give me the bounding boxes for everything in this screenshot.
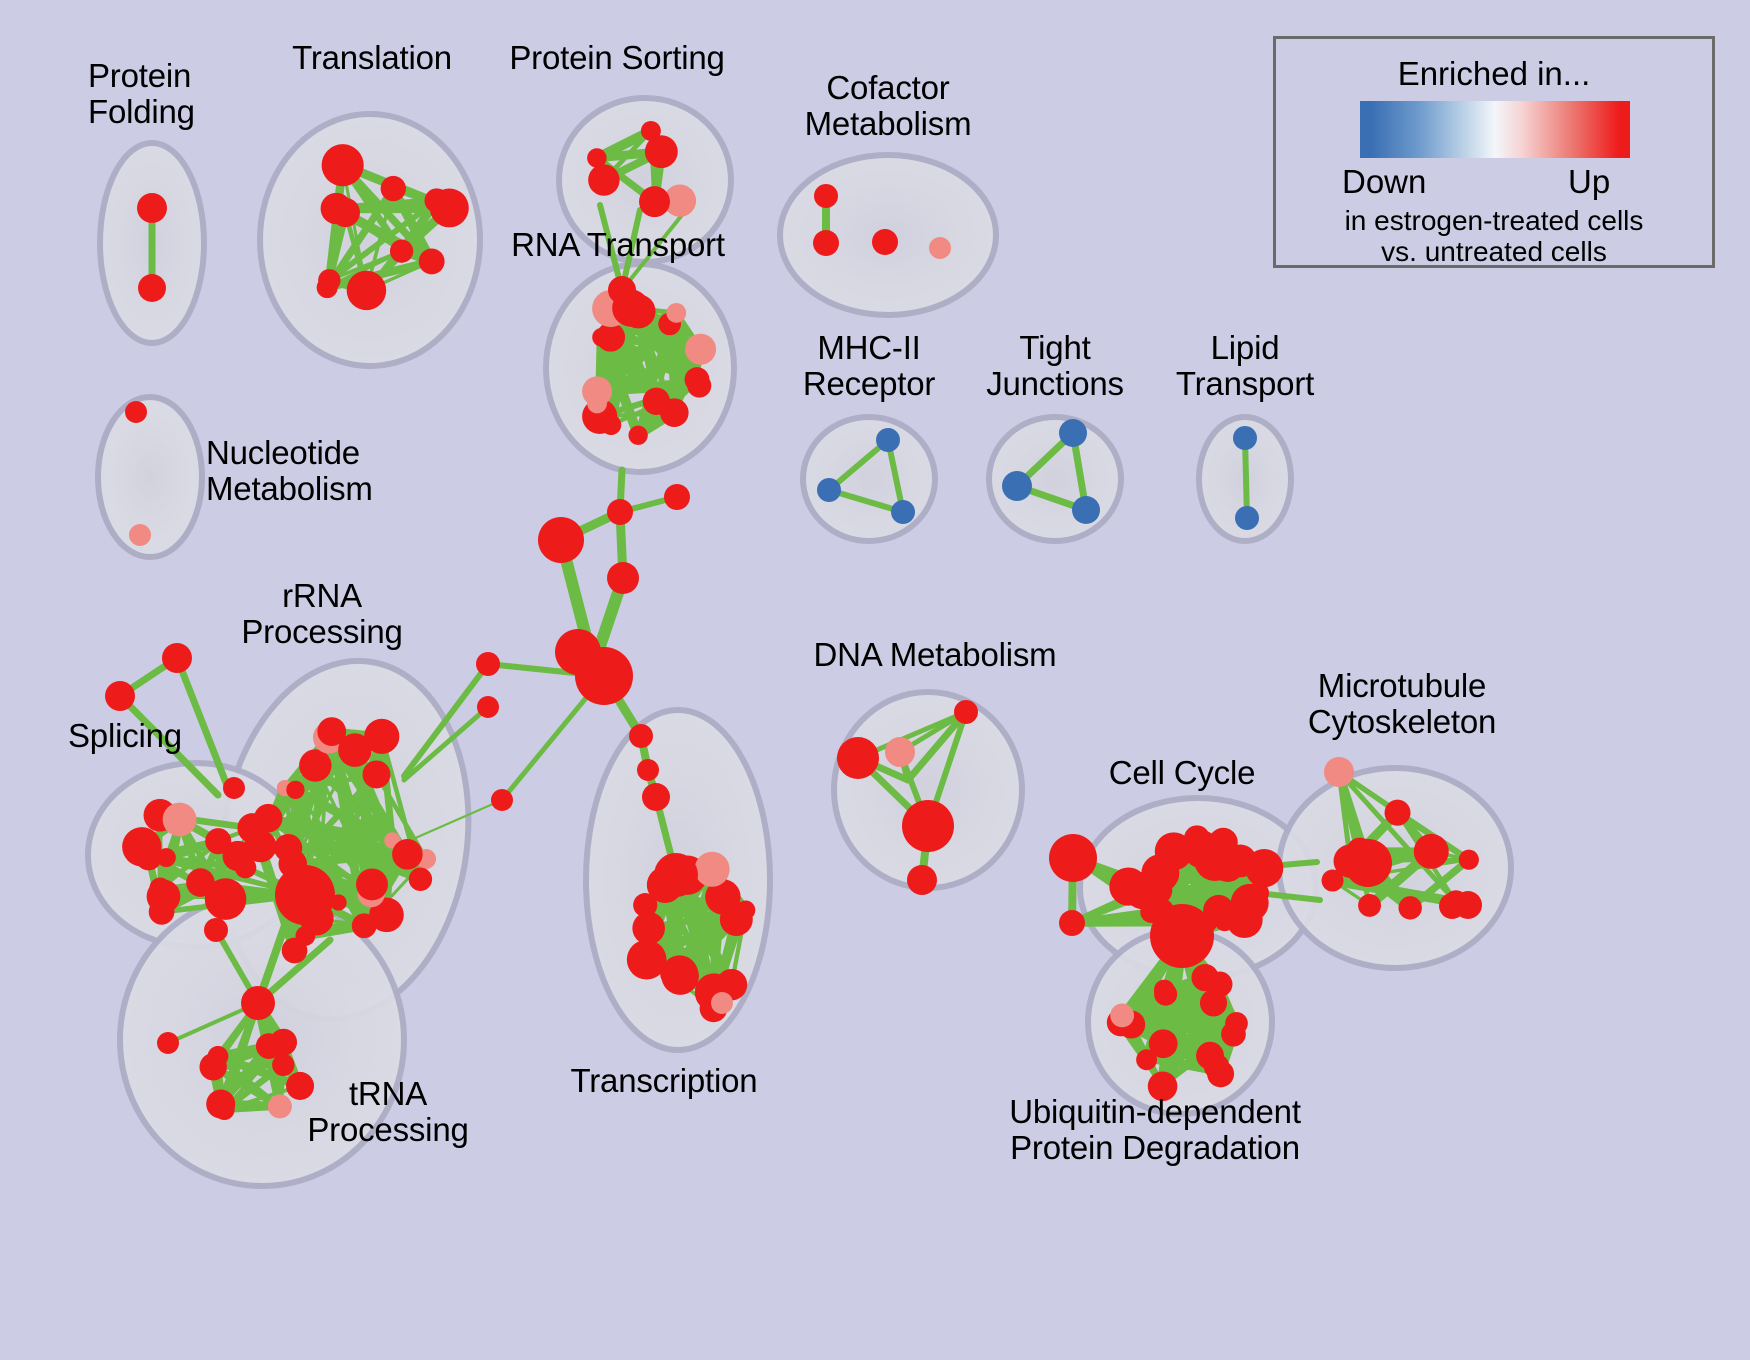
network-node[interactable] — [891, 500, 915, 524]
network-node[interactable] — [1059, 419, 1087, 447]
network-node[interactable] — [582, 376, 612, 406]
network-node[interactable] — [162, 643, 192, 673]
network-node[interactable] — [390, 239, 413, 262]
network-node[interactable] — [1072, 496, 1100, 524]
network-node[interactable] — [362, 760, 390, 788]
network-node[interactable] — [538, 517, 584, 563]
legend-box: Enriched in... Down Up in estrogen-treat… — [1273, 36, 1715, 268]
network-node[interactable] — [666, 303, 686, 323]
network-node[interactable] — [1059, 910, 1085, 936]
network-node[interactable] — [1385, 800, 1411, 826]
network-node[interactable] — [1233, 426, 1257, 450]
network-node[interactable] — [122, 827, 161, 866]
network-node[interactable] — [1221, 1022, 1246, 1047]
network-node[interactable] — [876, 428, 900, 452]
cluster-label-protein-sorting: Protein Sorting — [509, 40, 724, 76]
legend-title: Enriched in... — [1276, 55, 1712, 93]
legend-subtitle-line2: vs. untreated cells — [1276, 236, 1712, 268]
cluster-label-tight-junctions: Tight Junctions — [986, 330, 1124, 401]
network-node[interactable] — [419, 249, 445, 275]
network-node[interactable] — [627, 940, 667, 980]
network-node[interactable] — [588, 164, 619, 195]
network-node[interactable] — [664, 484, 690, 510]
network-node[interactable] — [654, 853, 698, 897]
network-node[interactable] — [270, 1029, 297, 1056]
cluster-label-splicing: Splicing — [68, 718, 182, 754]
network-node[interactable] — [347, 271, 387, 311]
network-node[interactable] — [837, 737, 879, 779]
network-node[interactable] — [607, 562, 639, 594]
cluster-hull-mhc-ii-receptor — [803, 417, 935, 541]
network-node[interactable] — [206, 1089, 235, 1118]
network-node[interactable] — [138, 274, 166, 302]
network-node[interactable] — [601, 415, 621, 435]
network-node[interactable] — [147, 880, 181, 914]
network-node[interactable] — [331, 198, 360, 227]
cluster-label-translation: Translation — [292, 40, 452, 76]
network-node[interactable] — [685, 334, 716, 365]
network-node[interactable] — [105, 681, 135, 711]
network-node[interactable] — [1344, 839, 1392, 887]
network-node[interactable] — [687, 374, 711, 398]
legend-up-label: Up — [1568, 163, 1610, 201]
network-node[interactable] — [274, 834, 302, 862]
network-node[interactable] — [607, 499, 633, 525]
network-node[interactable] — [322, 144, 364, 186]
network-node[interactable] — [711, 992, 733, 1014]
network-node[interactable] — [642, 783, 670, 811]
cluster-label-nucleotide-metabolism: Nucleotide Metabolism — [206, 435, 373, 506]
network-node[interactable] — [279, 892, 305, 918]
network-node[interactable] — [430, 188, 469, 227]
cluster-label-transcription: Transcription — [571, 1063, 758, 1099]
network-node[interactable] — [885, 737, 915, 767]
legend-down-label: Down — [1342, 163, 1426, 201]
network-node[interactable] — [902, 800, 954, 852]
network-node[interactable] — [1150, 904, 1214, 968]
network-node[interactable] — [1136, 1049, 1157, 1070]
network-node[interactable] — [954, 700, 978, 724]
network-node[interactable] — [872, 229, 898, 255]
enrichment-map-figure: Protein FoldingTranslationProtein Sortin… — [0, 0, 1750, 1360]
network-node[interactable] — [608, 276, 636, 304]
network-node[interactable] — [364, 719, 399, 754]
network-node[interactable] — [204, 918, 228, 942]
network-node[interactable] — [237, 813, 267, 843]
network-node[interactable] — [628, 426, 647, 445]
network-node[interactable] — [637, 759, 659, 781]
network-node[interactable] — [223, 841, 253, 871]
network-node[interactable] — [587, 148, 606, 167]
network-node[interactable] — [241, 986, 275, 1020]
network-node[interactable] — [223, 777, 245, 799]
cluster-label-mhc-ii-receptor: MHC-II Receptor — [803, 330, 935, 401]
network-node[interactable] — [1324, 757, 1354, 787]
network-node[interactable] — [381, 176, 406, 201]
cluster-label-lipid-transport: Lipid Transport — [1176, 330, 1314, 401]
network-node[interactable] — [491, 789, 513, 811]
network-node[interactable] — [477, 696, 499, 718]
network-node[interactable] — [1247, 856, 1269, 878]
network-node[interactable] — [157, 1032, 179, 1054]
cluster-label-trna-processing: tRNA Processing — [307, 1076, 468, 1147]
cluster-hull-microtubule-cytoskeleton — [1279, 768, 1511, 968]
network-node[interactable] — [575, 647, 633, 705]
network-node[interactable] — [208, 1046, 229, 1067]
network-node[interactable] — [1358, 894, 1381, 917]
network-node[interactable] — [1110, 1003, 1134, 1027]
network-node[interactable] — [720, 903, 753, 936]
network-node[interactable] — [352, 913, 377, 938]
network-node[interactable] — [929, 237, 951, 259]
network-node[interactable] — [632, 912, 665, 945]
legend-color-bar — [1360, 101, 1630, 158]
network-node[interactable] — [1049, 834, 1097, 882]
network-node[interactable] — [476, 652, 500, 676]
network-node[interactable] — [813, 230, 839, 256]
network-node[interactable] — [660, 398, 689, 427]
network-edge — [1245, 438, 1247, 518]
network-node[interactable] — [1002, 471, 1032, 501]
cluster-label-dna-metabolism: DNA Metabolism — [814, 637, 1057, 673]
cluster-hull-translation — [260, 114, 480, 366]
network-node[interactable] — [317, 277, 338, 298]
network-node[interactable] — [186, 868, 215, 897]
cluster-label-rna-transport: RNA Transport — [511, 227, 725, 263]
cluster-label-cofactor-metabolism: Cofactor Metabolism — [805, 70, 972, 141]
cluster-label-ubiquitin-degradation: Ubiquitin-dependent Protein Degradation — [1009, 1094, 1301, 1165]
network-node[interactable] — [645, 135, 678, 168]
network-node[interactable] — [1207, 1060, 1234, 1087]
network-node[interactable] — [1247, 882, 1269, 904]
network-node[interactable] — [629, 724, 653, 748]
cluster-label-microtubule-cytoskeleton: Microtubule Cytoskeleton — [1308, 668, 1496, 739]
network-node[interactable] — [817, 478, 841, 502]
network-node[interactable] — [907, 865, 937, 895]
network-node[interactable] — [1414, 834, 1449, 869]
network-node[interactable] — [695, 852, 730, 887]
network-node[interactable] — [1454, 891, 1482, 919]
network-node[interactable] — [1459, 850, 1479, 870]
network-node[interactable] — [1398, 896, 1421, 919]
network-node[interactable] — [392, 839, 423, 870]
cluster-label-protein-folding: Protein Folding — [88, 58, 195, 129]
network-node[interactable] — [163, 803, 197, 837]
network-node[interactable] — [1194, 839, 1236, 881]
cluster-label-rrna-processing: rRNA Processing — [241, 578, 402, 649]
network-node[interactable] — [409, 868, 432, 891]
legend-subtitle-line1: in estrogen-treated cells — [1276, 205, 1712, 237]
network-node[interactable] — [286, 781, 304, 799]
network-node[interactable] — [1154, 983, 1177, 1006]
network-node[interactable] — [639, 186, 670, 217]
network-node[interactable] — [272, 1054, 294, 1076]
network-node[interactable] — [299, 749, 331, 781]
network-node[interactable] — [1200, 989, 1227, 1016]
network-node[interactable] — [129, 524, 151, 546]
network-node[interactable] — [356, 868, 388, 900]
network-node[interactable] — [1235, 506, 1259, 530]
network-node[interactable] — [137, 193, 167, 223]
network-node[interactable] — [814, 184, 838, 208]
network-node[interactable] — [268, 1094, 292, 1118]
network-node[interactable] — [125, 401, 147, 423]
cluster-label-cell-cycle: Cell Cycle — [1109, 755, 1256, 791]
